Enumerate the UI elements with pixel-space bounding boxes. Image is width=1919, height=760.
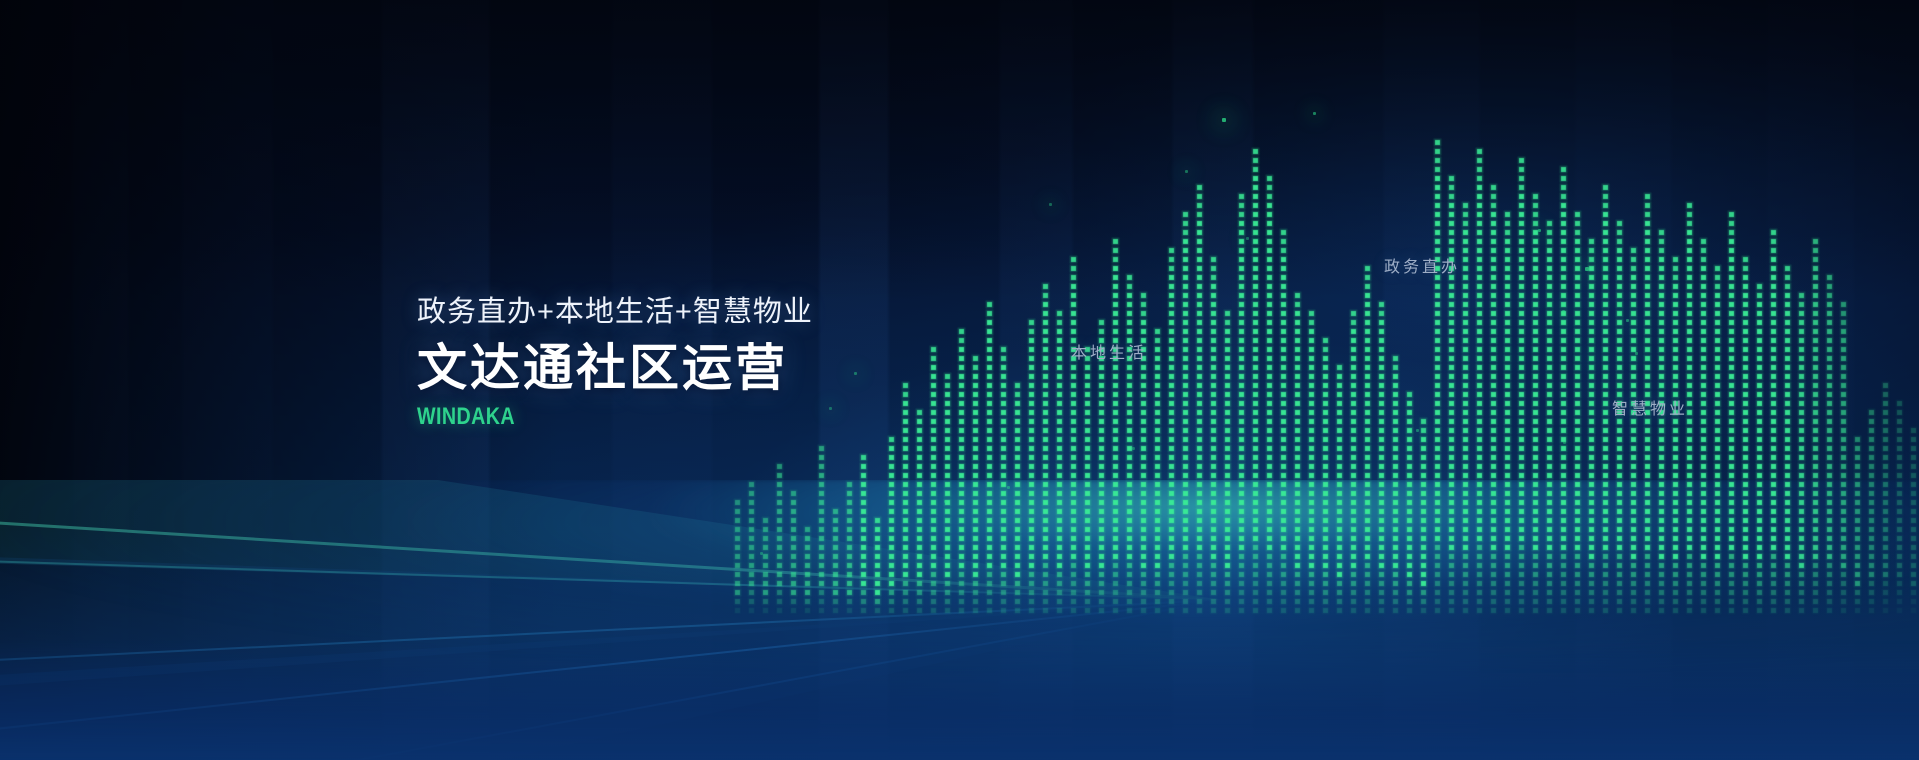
particle-dot [1589, 358, 1592, 361]
particle-dot [1492, 501, 1495, 504]
particle-dot [1585, 267, 1589, 271]
particle-dot [1416, 429, 1419, 432]
hero-banner: 政务直办本地生活智慧物业 政务直办+本地生活+智慧物业 文达通社区运营 WIND… [0, 0, 1919, 760]
particle-dot [1049, 203, 1052, 206]
page-title: 文达通社区运营 [417, 340, 977, 396]
particle-dot [760, 552, 763, 555]
particle-dot [1132, 447, 1135, 450]
particle-dot [1185, 170, 1188, 173]
subtitle-text: 政务直办+本地生活+智慧物业 [417, 294, 977, 330]
particle-dot [1563, 441, 1566, 444]
particle-dot [1222, 118, 1226, 122]
particle-dot [1538, 229, 1541, 232]
section-label-1: 政务直办 [1384, 253, 1460, 277]
particle-dot [1506, 357, 1509, 360]
particle-dot [1246, 237, 1249, 240]
particle-dot [1007, 486, 1010, 489]
particle-dot [1313, 112, 1316, 115]
headline-block: 政务直办+本地生活+智慧物业 文达通社区运营 WINDAKA [417, 294, 977, 429]
particle-dot [944, 500, 947, 503]
particle-dot [1085, 557, 1088, 560]
particle-dot [1562, 310, 1565, 313]
brand-wordmark: WINDAKA [417, 405, 876, 429]
section-label-2: 本地生活 [1071, 339, 1147, 363]
particle-dot [1635, 352, 1638, 355]
particle-dot [1626, 319, 1629, 322]
section-label-3: 智慧物业 [1612, 395, 1688, 419]
